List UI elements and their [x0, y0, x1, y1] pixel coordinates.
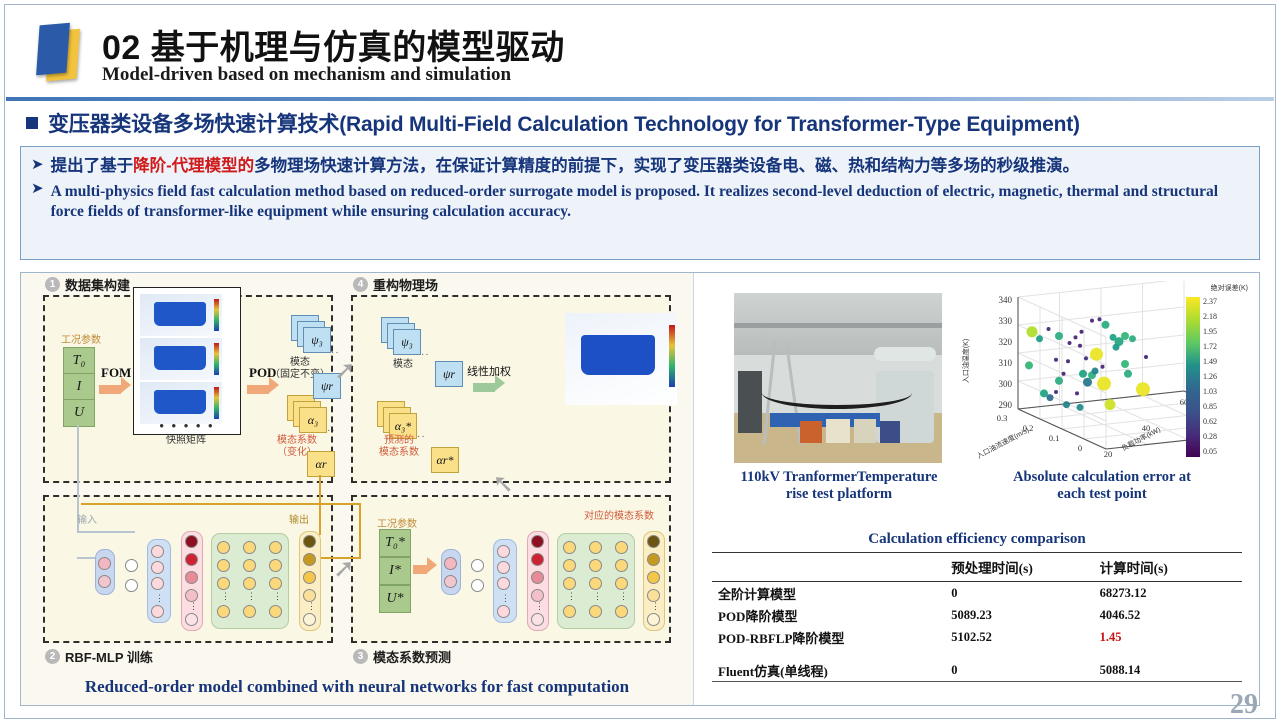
right-column: 110kV TranformerTemperature rise test pl…: [694, 273, 1259, 705]
q3-mlp-node: [563, 605, 576, 618]
z-tick: 290: [999, 400, 1013, 410]
content-frame: 1 数据集构建 4 重构物理场 2 RBF-MLP 训练 3 模态系数预测 工况…: [20, 272, 1260, 706]
table-cell-name: Fluent仿真(单线程): [712, 659, 945, 682]
q3-mlp-node: [589, 577, 602, 590]
scatter-point: [1063, 401, 1070, 408]
scatter-point: [1075, 391, 1079, 395]
scatter-point: [1054, 390, 1058, 394]
q1-snapshot-ellipsis: • • • • •: [134, 418, 240, 433]
q3-red-node-5: [531, 613, 544, 626]
q2-out-node-1: [303, 535, 316, 548]
callout-cn-part1: 提出了基于: [51, 157, 134, 175]
q3-param-title: 工况参数: [377, 515, 417, 530]
slide: 02 基于机理与仿真的模型驱动 Model-driven based on me…: [0, 0, 1280, 723]
scatter-point: [1077, 404, 1084, 411]
colorbar-tick: 0.28: [1203, 432, 1217, 441]
q2-red-node-3: [185, 571, 198, 584]
callout-bullet-cn: ➤ 提出了基于降阶-代理模型的多物理场快速计算方法，在保证计算精度的前提下，实现…: [31, 155, 1249, 177]
q2-red-ellipsis: ⋮: [189, 603, 198, 610]
q3-arrow-head: [427, 557, 437, 573]
scatter-point: [1055, 377, 1063, 385]
z-tick: 330: [999, 316, 1013, 326]
q3-rbf-node-2: [497, 561, 510, 574]
q2-mlp-node: [269, 605, 282, 618]
q4-weight-arrow-head: [495, 375, 505, 391]
quadrant-2-text: RBF-MLP 训练: [65, 647, 153, 666]
x-tick: 0.1: [1049, 433, 1060, 443]
logo-blue-sheet: [36, 23, 70, 75]
q2-mlp-node: [243, 559, 256, 572]
snapshot-field-blob: [154, 390, 206, 414]
chevron-right-bullet-icon: ➤: [31, 155, 44, 175]
q3-mlp-ellipsis: ⋮: [619, 593, 628, 600]
photo-radiator: [738, 371, 762, 433]
q3-hidden-node-2: [471, 579, 484, 592]
colorbar: 2.372.181.951.721.491.261.030.850.620.28…: [1186, 297, 1242, 457]
diagram-caption: Reduced-order model combined with neural…: [21, 677, 693, 697]
scatter-point: [1121, 360, 1129, 368]
q2-neural-network: ⋮ ⋮ ⋮ ⋮: [81, 525, 327, 637]
table-cell-name: 全阶计算模型: [712, 582, 945, 605]
scatter-point: [1113, 344, 1120, 351]
table-row: 全阶计算模型068273.12: [712, 582, 1242, 605]
photo-caption: 110kV TranformerTemperature rise test pl…: [708, 469, 970, 504]
q3-red-ellipsis: ⋮: [535, 603, 544, 610]
colorbar-tick: 0.62: [1203, 417, 1217, 426]
q2-mlp-node: [217, 577, 230, 590]
q3-mlp-node: [563, 577, 576, 590]
colorbar-gradient: [1186, 297, 1200, 457]
scatter-point: [1025, 361, 1033, 369]
section-heading: 变压器类设备多场快速计算技术(Rapid Multi-Field Calcula…: [26, 108, 1080, 138]
q4-mode-last: ψr: [435, 361, 463, 387]
q3-param-T0: T₀*: [379, 529, 411, 557]
error-scatter-3d-chart: 绝对误差(K) 3403303203103002900.30.20.102040…: [956, 281, 1256, 471]
q1-alpha-card-3: α₃: [299, 407, 327, 433]
photo-pipe: [874, 347, 936, 361]
scatter-point: [1090, 348, 1103, 361]
y-tick: 20: [1104, 449, 1113, 459]
q2-mlp-node: [243, 541, 256, 554]
table-row: POD降阶模型5089.234046.52: [712, 604, 1242, 626]
colorbar-tick: 1.03: [1203, 387, 1217, 396]
transformer-test-platform-photo: [734, 293, 942, 463]
efficiency-table-wrap: Calculation efficiency comparison 预处理时间(…: [712, 531, 1242, 682]
q3-rbf-ellipsis: ⋮: [501, 595, 510, 602]
scatter-3d-svg: 3403303203103002900.30.20.10204060入口油温度(…: [956, 281, 1194, 467]
colorbar-tick: 0.05: [1203, 447, 1217, 456]
plot-caption: Absolute calculation error at each test …: [952, 469, 1252, 504]
q1-param-title: 工况参数: [61, 331, 101, 346]
q3-rbf-node-4: [497, 605, 510, 618]
scatter-point: [1121, 332, 1129, 340]
colorbar-tick: 1.95: [1203, 327, 1217, 336]
table-cell-calctime: 4046.52: [1094, 604, 1242, 626]
q1-param-I: I: [63, 373, 95, 401]
q2-mlp-node: [217, 541, 230, 554]
scatter-point: [1092, 368, 1099, 375]
scatter-point: [1083, 378, 1092, 387]
z-tick: 300: [999, 379, 1013, 389]
q2-mlp-node: [243, 577, 256, 590]
snapshot-colorbar: [214, 387, 219, 419]
colorbar-tick: 2.37: [1203, 297, 1217, 306]
q3-rbf-node-1: [497, 545, 510, 558]
q3-input-node-2: [444, 575, 457, 588]
scatter-point: [1084, 356, 1088, 360]
efficiency-table: 预处理时间(s) 计算时间(s) 全阶计算模型068273.12POD降阶模型5…: [712, 552, 1242, 682]
snapshot-field-blob: [154, 346, 206, 370]
q3-mlp-node: [615, 577, 628, 590]
q3-hidden-node-1: [471, 559, 484, 572]
x-tick: 0: [1078, 443, 1082, 453]
q1-snapshot-2: [140, 338, 222, 380]
q2-mlp-ellipsis: ⋮: [273, 593, 282, 600]
plot-caption-line1: Absolute calculation error at: [952, 469, 1252, 486]
q1-mode-card-3: ψ₃: [303, 327, 331, 353]
header-divider: [6, 97, 1274, 101]
q1-snapshot-1: [140, 294, 222, 336]
table-cell-name: POD降阶模型: [712, 604, 945, 626]
quadrant-3-number: 3: [353, 649, 368, 664]
arrow-q1-to-q4-icon: ➚: [334, 357, 356, 383]
q1-snapshot-matrix-box: • • • • •: [133, 287, 241, 435]
callout-box: ➤ 提出了基于降阶-代理模型的多物理场快速计算方法，在保证计算精度的前提下，实现…: [20, 146, 1260, 260]
table-cell-pretime: 0: [945, 659, 1093, 682]
scatter-point: [1090, 319, 1094, 323]
scatter-point: [1101, 365, 1105, 369]
q2-mlp-node: [269, 541, 282, 554]
table-cell-name: POD-RBFLP降阶模型: [712, 626, 945, 648]
q3-input-band: [441, 549, 461, 595]
table-body: 全阶计算模型068273.12POD降阶模型5089.234046.52POD-…: [712, 582, 1242, 682]
quadrant-2-number: 2: [45, 649, 60, 664]
arrow-q2-to-q3-icon: ➚: [333, 555, 355, 581]
scatter-point: [1124, 370, 1132, 378]
q2-red-node-5: [185, 613, 198, 626]
q3-mlp-node: [615, 605, 628, 618]
snapshot-field-blob: [154, 302, 206, 326]
q3-rbf-node-3: [497, 577, 510, 590]
q2-mlp-node: [217, 559, 230, 572]
q2-rbf-ellipsis: ⋮: [155, 595, 164, 602]
chevron-right-bullet-icon-2: ➤: [31, 179, 44, 199]
scatter-point: [1054, 358, 1058, 362]
q3-mlp-ellipsis: ⋮: [593, 593, 602, 600]
callout-bullet-en: ➤ A multi-physics field fast calculation…: [31, 179, 1249, 222]
q4-weight-arrow-body: [473, 383, 495, 392]
colorbar-tick: 1.49: [1203, 357, 1217, 366]
q2-mlp-node: [243, 605, 256, 618]
q3-mlp-node: [615, 559, 628, 572]
q4-alpha-title-2: 模态系数: [369, 447, 429, 459]
q2-input-arrow: [77, 557, 95, 559]
table-col-calc: 计算时间(s): [1094, 553, 1242, 582]
quadrant-1-number: 1: [45, 277, 60, 292]
reconstructed-field-blob: [581, 335, 655, 375]
photo-caption-line2: rise test platform: [708, 486, 970, 503]
colorbar-tick: 1.72: [1203, 342, 1217, 351]
arrow-q3-to-q4-icon: ➚: [489, 473, 515, 495]
reconstructed-colorbar: [669, 325, 675, 387]
q2-mlp-node: [269, 559, 282, 572]
quadrant-1-label: 1 数据集构建: [45, 275, 130, 294]
photo-equipment-box-1: [800, 421, 822, 443]
q4-mode-title: 模态: [379, 359, 427, 371]
q1-fom-arrow-body: [99, 385, 121, 394]
table-row: Fluent仿真(单线程)05088.14: [712, 659, 1242, 682]
table-title: Calculation efficiency comparison: [712, 531, 1242, 548]
q2-hidden-node-2: [125, 579, 138, 592]
plot-caption-line2: each test point: [952, 486, 1252, 503]
quadrant-2-label: 2 RBF-MLP 训练: [45, 647, 153, 666]
callout-cn-text: 提出了基于降阶-代理模型的多物理场快速计算方法，在保证计算精度的前提下，实现了变…: [51, 155, 1080, 177]
table-header-row: 预处理时间(s) 计算时间(s): [712, 553, 1242, 582]
q3-mlp-node: [563, 559, 576, 572]
q1-param-T0: T₀: [63, 347, 95, 375]
table-cell-pretime: 5102.52: [945, 626, 1093, 648]
page-number: 29: [1230, 689, 1258, 721]
q2-out-node-2: [303, 553, 316, 566]
q3-output-label: 对应的模态系数: [569, 511, 669, 523]
callout-cn-part2: 多物理场快速计算方法，在保证计算精度的前提下，实现了变压器类设备电、磁、热和结构…: [254, 157, 1079, 175]
scatter-point: [1066, 359, 1070, 363]
table-col-pre: 预处理时间(s): [945, 553, 1093, 582]
table-cell-calctime: 1.45: [1094, 626, 1242, 648]
z-axis-label: 入口油温度(K): [961, 339, 970, 383]
colorbar-title: 绝对误差(K): [1211, 283, 1248, 293]
q2-rbf-node-1: [151, 545, 164, 558]
scatter-point: [1105, 399, 1116, 410]
q3-neural-network: ⋮ ⋮ ⋮ ⋮: [437, 525, 667, 637]
q3-red-node-1: [531, 535, 544, 548]
scatter-point: [1136, 382, 1150, 396]
q2-red-node-2: [185, 553, 198, 566]
scatter-point: [1047, 394, 1054, 401]
quadrant-4-number: 4: [353, 277, 368, 292]
q3-red-node-3: [531, 571, 544, 584]
q3-param-I: I*: [379, 557, 411, 585]
q3-red-node-2: [531, 553, 544, 566]
scatter-point: [1078, 344, 1082, 348]
q1-snapshot-matrix-label: 快照矩阵: [151, 435, 221, 447]
callout-cn-highlight: 降阶-代理模型的: [133, 157, 254, 175]
quadrant-4-text: 重构物理场: [373, 275, 438, 294]
q3-arrow-body: [413, 565, 427, 574]
photo-cable: [762, 377, 912, 409]
q3-out-ellipsis: ⋮: [651, 603, 660, 610]
q2-rbf-node-2: [151, 561, 164, 574]
q3-out-node-5: [647, 613, 660, 626]
scatter-point: [1027, 326, 1038, 337]
scatter-point: [1102, 321, 1110, 329]
scatter-point: [1129, 335, 1136, 342]
table-col-name: [712, 553, 945, 582]
q4-alpha-last: αr*: [431, 447, 459, 473]
q2-out-node-3: [303, 571, 316, 584]
q3-mlp-node: [589, 605, 602, 618]
table-spacer-row: [712, 648, 1242, 659]
q2-input-node-2: [98, 575, 111, 588]
q3-input-node-1: [444, 557, 457, 570]
callout-en-text: A multi-physics field fast calculation m…: [51, 182, 1249, 222]
snapshot-colorbar: [214, 299, 219, 331]
scatter-point: [1097, 377, 1111, 391]
photo-equipment-box-3: [854, 419, 876, 443]
q3-mlp-ellipsis: ⋮: [567, 593, 576, 600]
q2-rbf-node-4: [151, 605, 164, 618]
q2-output-line-v: [359, 503, 361, 559]
colorbar-tick: 2.18: [1203, 312, 1217, 321]
scatter-point: [1055, 332, 1063, 340]
q2-mlp-node: [217, 605, 230, 618]
square-bullet-icon: [26, 117, 38, 129]
photo-beam: [734, 323, 942, 328]
q3-param-U: U*: [379, 585, 411, 613]
quadrant-3-label: 3 模态系数预测: [353, 647, 451, 666]
q2-mlp-node: [269, 577, 282, 590]
q1-pod-arrow-body: [247, 385, 269, 394]
section-heading-label: 变压器类设备多场快速计算技术(Rapid Multi-Field Calcula…: [48, 108, 1080, 138]
logo-icon: [34, 22, 96, 84]
q3-out-node-3: [647, 571, 660, 584]
scatter-point: [1144, 355, 1148, 359]
scatter-point: [1062, 372, 1066, 376]
q3-mlp-node: [589, 559, 602, 572]
page-title-en: Model-driven based on mechanism and simu…: [102, 64, 511, 86]
q1-alpha-title-1: 模态系数: [261, 435, 333, 447]
scatter-point: [1036, 335, 1043, 342]
q2-red-node-1: [185, 535, 198, 548]
scatter-point: [1098, 317, 1102, 321]
scatter-point: [1068, 341, 1072, 345]
q3-mlp-node: [563, 541, 576, 554]
q2-input-band: [95, 549, 115, 595]
q1-fom-arrow-head: [121, 377, 131, 393]
scatter-point: [1074, 335, 1078, 339]
q3-mlp-node: [615, 541, 628, 554]
q2-rbf-node-3: [151, 577, 164, 590]
q2-out-node-5: [303, 613, 316, 626]
scatter-point: [1079, 370, 1087, 378]
photo-equipment-box-2: [826, 419, 850, 443]
photo-caption-line1: 110kV TranformerTemperature: [708, 469, 970, 486]
slide-header: 02 基于机理与仿真的模型驱动 Model-driven based on me…: [6, 6, 1274, 98]
x-tick: 0.3: [997, 413, 1008, 423]
q2-out-ellipsis: ⋮: [307, 603, 316, 610]
quadrant-4-label: 4 重构物理场: [353, 275, 438, 294]
q2-mlp-ellipsis: ⋮: [221, 593, 230, 600]
colorbar-tick: 0.85: [1203, 402, 1217, 411]
q2-input-node-1: [98, 557, 111, 570]
q2-mlp-ellipsis: ⋮: [247, 593, 256, 600]
table-cell-calctime: 5088.14: [1094, 659, 1242, 682]
scatter-point: [1080, 330, 1084, 334]
z-tick: 310: [999, 358, 1013, 368]
table-cell-pretime: 0: [945, 582, 1093, 605]
photo-equipment-box-4: [880, 421, 900, 443]
colorbar-tick: 1.26: [1203, 372, 1217, 381]
quadrant-3-text: 模态系数预测: [373, 647, 451, 666]
q3-mlp-node: [589, 541, 602, 554]
q2-output-label: 输出: [289, 511, 309, 526]
table-cell-pretime: 5089.23: [945, 604, 1093, 626]
q4-mode-card-3: ψ₃: [393, 329, 421, 355]
snapshot-colorbar: [214, 343, 219, 375]
page-title-cn: 02 基于机理与仿真的模型驱动: [102, 20, 565, 69]
q4-alpha-title-1: 预测的: [369, 435, 429, 447]
q2-input-label: 输入: [77, 511, 97, 526]
q3-out-node-2: [647, 553, 660, 566]
table-row: POD-RBFLP降阶模型5102.521.45: [712, 626, 1242, 648]
scatter-point: [1047, 327, 1051, 331]
q4-reconstructed-field-plot: [565, 313, 677, 405]
quadrant-1-text: 数据集构建: [65, 275, 130, 294]
x-axis-label: 入口油流速度(m/s): [975, 425, 1030, 460]
z-tick: 320: [999, 337, 1013, 347]
z-tick: 340: [999, 295, 1013, 305]
q1-mode-title-1: 模态: [269, 357, 331, 369]
q2-hidden-node-1: [125, 559, 138, 572]
table-cell-calctime: 68273.12: [1094, 582, 1242, 605]
workflow-diagram: 1 数据集构建 4 重构物理场 2 RBF-MLP 训练 3 模态系数预测 工况…: [21, 273, 694, 705]
q3-out-node-1: [647, 535, 660, 548]
q2-output-line-top: [81, 503, 361, 505]
q1-alpha-last: αr: [307, 451, 335, 477]
q1-param-U: U: [63, 399, 95, 427]
